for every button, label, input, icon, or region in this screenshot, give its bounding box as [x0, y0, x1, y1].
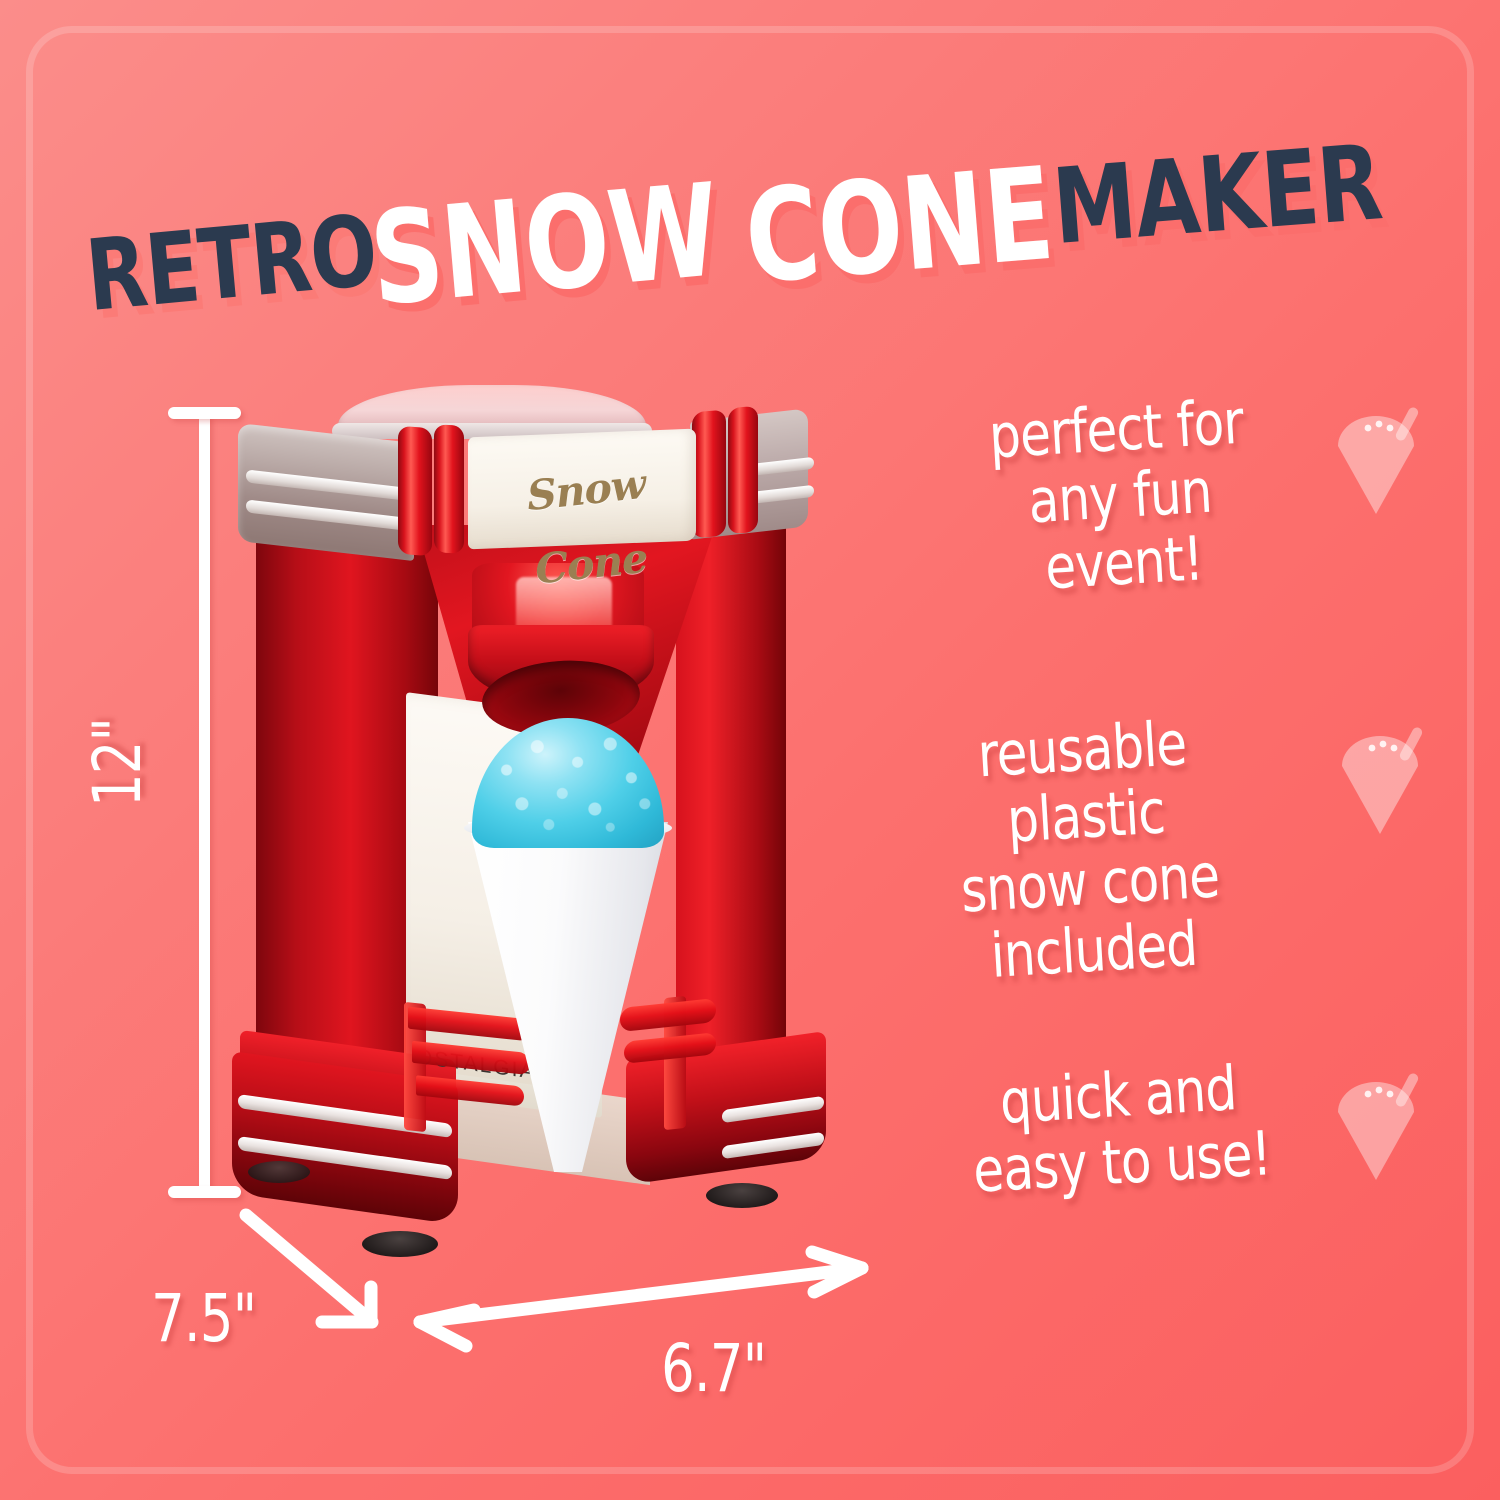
title-word-snow: SNOW [365, 156, 724, 335]
height-dimension-line [199, 412, 210, 1192]
title-word-cone: CONE [740, 140, 1058, 313]
height-dimension-cap-top [168, 407, 241, 419]
feature-2-text: reusable plastic snow cone included [895, 705, 1281, 995]
feature-item-3: quick and easy to use! [930, 1062, 1450, 1196]
snow-cone-icon [1328, 722, 1432, 845]
machine-rubber-foot [706, 1183, 778, 1208]
height-dimension-label: 12" [79, 718, 156, 807]
title-word-maker: MAKER [1049, 121, 1386, 268]
snow-cone-icon [1324, 402, 1428, 525]
machine-red-pillar [398, 426, 432, 556]
width-dimension-label: 6.7" [661, 1330, 766, 1407]
product-image-snow-cone-maker: Snow Cone OSTALGIA™ [220, 385, 840, 1285]
feature-item-2: reusable plastic snow cone included [862, 716, 1450, 984]
depth-dimension-label: 7.5" [151, 1280, 256, 1357]
title-word-retro: RETRO [82, 194, 382, 334]
page-title: RETRO SNOW CONE MAKER [0, 108, 1500, 338]
machine-rubber-foot [362, 1231, 438, 1257]
width-arrow-head-left-b [420, 1322, 466, 1346]
machine-red-pillar [434, 424, 464, 554]
machine-red-pillar [728, 406, 758, 535]
feature-3-text: quick and easy to use! [960, 1053, 1279, 1205]
snow-cone-icon [1324, 1068, 1428, 1191]
width-arrow-head-left-a [420, 1310, 474, 1322]
feature-item-1: perfect for any fun event! [930, 396, 1450, 597]
product-infographic-poster: RETRO SNOW CONE MAKER Snow Cone [0, 0, 1500, 1500]
machine-red-pillar [692, 410, 726, 539]
machine-rubber-foot [248, 1161, 310, 1183]
feature-1-text: perfect for any fun event! [959, 387, 1282, 606]
product-ground-shadow [240, 1237, 800, 1277]
height-dimension-cap-bottom [168, 1186, 241, 1198]
